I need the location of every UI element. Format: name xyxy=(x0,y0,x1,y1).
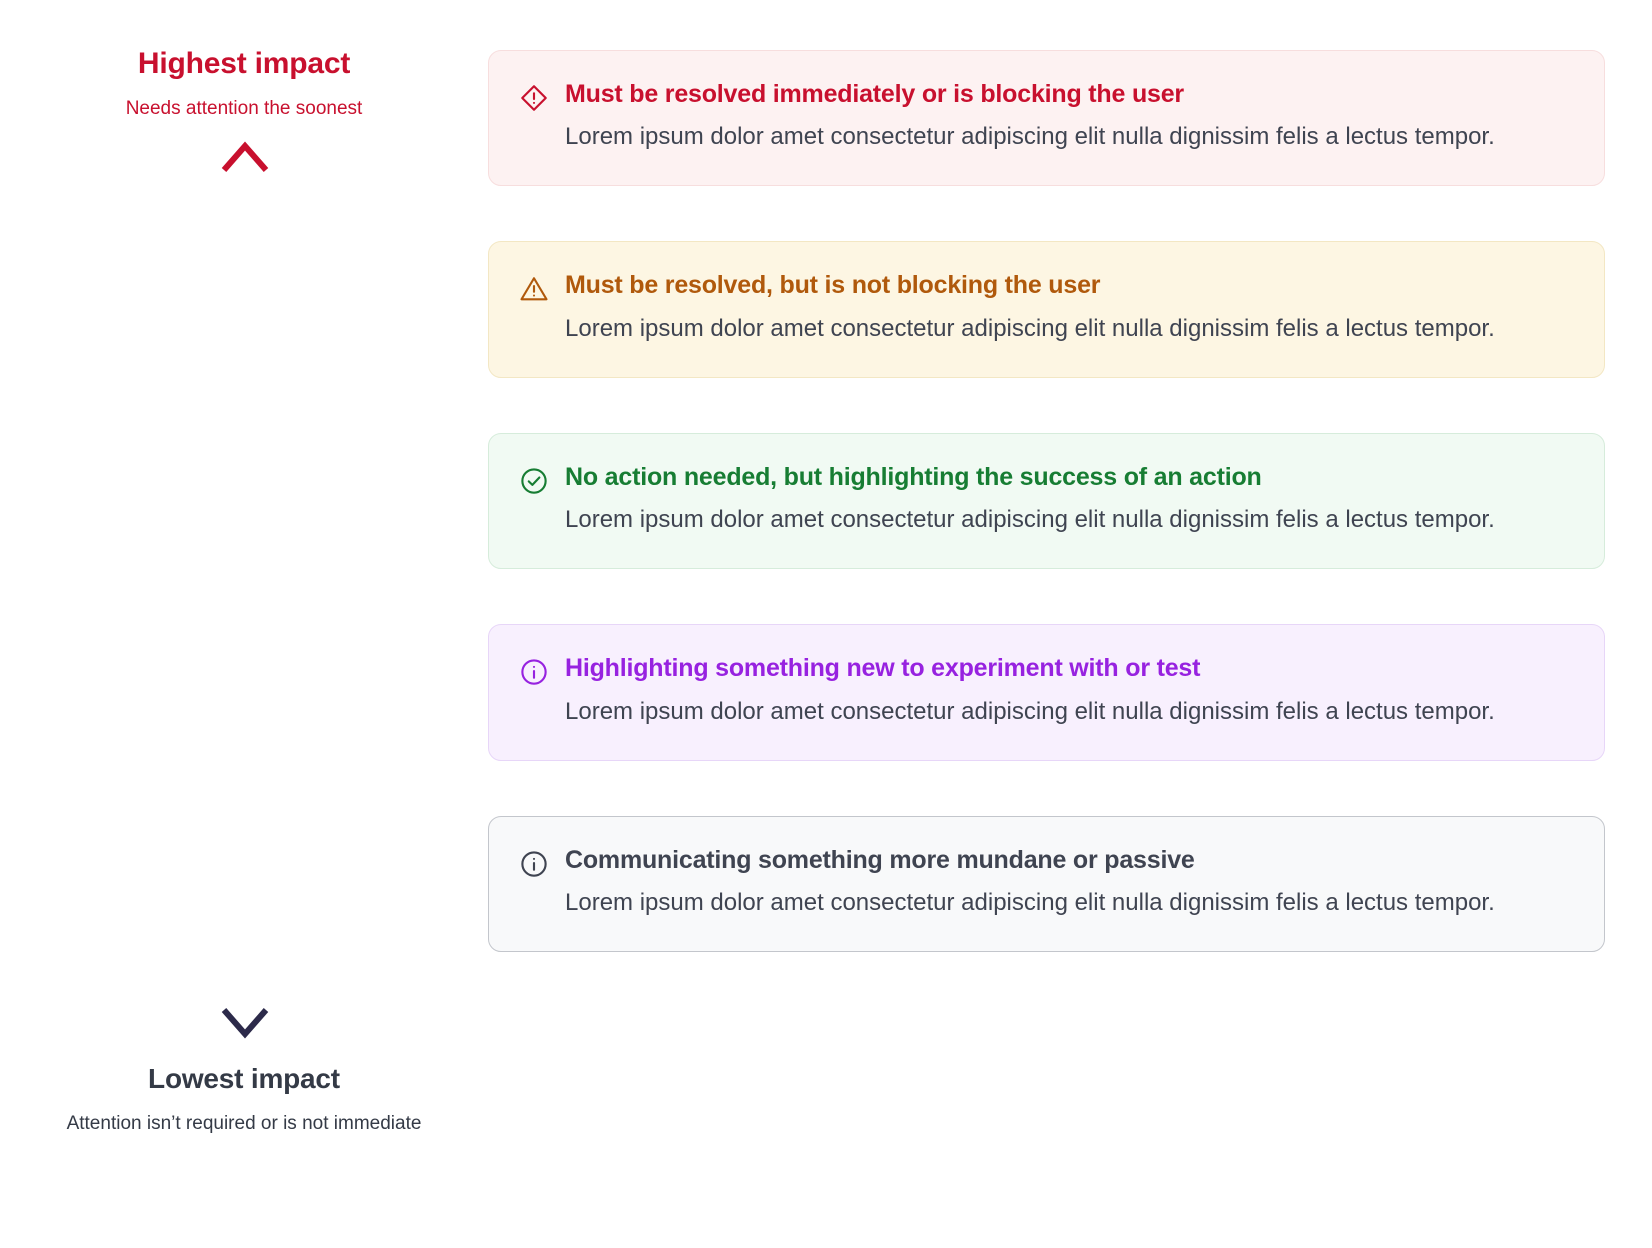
double-ended-vertical-arrow-icon xyxy=(180,140,310,1040)
impact-axis-column: Highest impact Needs attention the soone… xyxy=(0,0,488,1248)
alert-card-title: No action needed, but highlighting the s… xyxy=(565,462,1574,493)
alert-card-new: Highlighting something new to experiment… xyxy=(488,624,1605,760)
alert-card-success: No action needed, but highlighting the s… xyxy=(488,433,1605,569)
diamond-exclamation-icon xyxy=(519,79,565,115)
highest-impact-label: Highest impact xyxy=(0,46,488,82)
alert-card-description: Lorem ipsum dolor amet consectetur adipi… xyxy=(565,118,1495,155)
alert-card-title: Highlighting something new to experiment… xyxy=(565,653,1574,684)
circle-info-icon xyxy=(519,845,565,881)
alert-card-neutral: Communicating something more mundane or … xyxy=(488,816,1605,952)
alert-card-title: Must be resolved, but is not blocking th… xyxy=(565,270,1574,301)
alert-card-critical: Must be resolved immediately or is block… xyxy=(488,50,1605,186)
alert-card-body: Communicating something more mundane or … xyxy=(565,845,1574,921)
alert-card-body: Must be resolved, but is not blocking th… xyxy=(565,270,1574,346)
alert-card-body: Must be resolved immediately or is block… xyxy=(565,79,1574,155)
highest-impact-sublabel: Needs attention the soonest xyxy=(0,96,488,123)
alert-card-title: Must be resolved immediately or is block… xyxy=(565,79,1574,110)
alert-card-description: Lorem ipsum dolor amet consectetur adipi… xyxy=(565,884,1495,921)
impact-hierarchy-page: Highest impact Needs attention the soone… xyxy=(0,0,1652,1248)
alert-card-body: No action needed, but highlighting the s… xyxy=(565,462,1574,538)
circle-info-icon xyxy=(519,653,565,689)
alert-card-body: Highlighting something new to experiment… xyxy=(565,653,1574,729)
lowest-impact-label: Lowest impact xyxy=(0,1062,488,1096)
alert-card-list: Must be resolved immediately or is block… xyxy=(488,0,1652,1248)
alert-card-title: Communicating something more mundane or … xyxy=(565,845,1574,876)
circle-check-icon xyxy=(519,462,565,498)
alert-card-description: Lorem ipsum dolor amet consectetur adipi… xyxy=(565,501,1495,538)
alert-card-description: Lorem ipsum dolor amet consectetur adipi… xyxy=(565,310,1495,347)
triangle-exclamation-icon xyxy=(519,270,565,306)
impact-gradient-arrow xyxy=(180,140,310,1040)
lowest-impact-sublabel: Attention isn’t required or is not immed… xyxy=(0,1111,488,1138)
alert-card-description: Lorem ipsum dolor amet consectetur adipi… xyxy=(565,693,1495,730)
alert-card-warning: Must be resolved, but is not blocking th… xyxy=(488,241,1605,377)
